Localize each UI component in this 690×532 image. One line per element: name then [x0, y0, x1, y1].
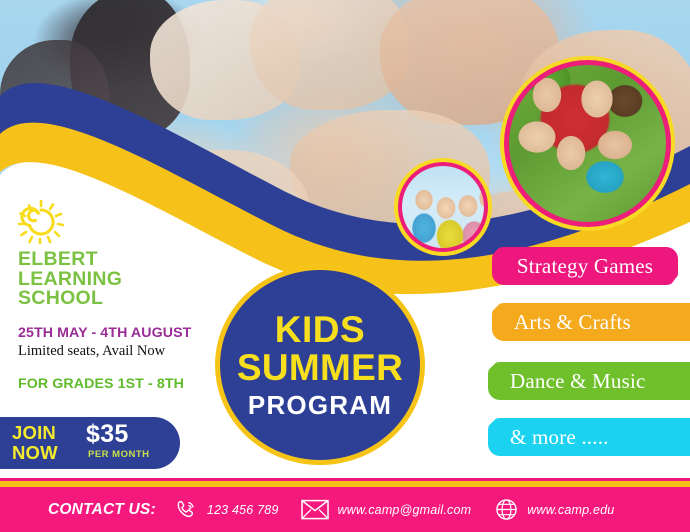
hero-title-circle: KIDS SUMMER PROGRAM [215, 265, 425, 465]
phone-number: 123 456 789 [207, 503, 279, 517]
contact-website[interactable]: www.camp.edu [495, 498, 614, 521]
envelope-icon [301, 499, 329, 520]
hero-line-3: PROGRAM [248, 390, 392, 420]
hero-line-2: SUMMER [237, 349, 403, 387]
tag-dance-music[interactable]: Dance & Music [488, 362, 690, 400]
price-period: PER MONTH [88, 449, 150, 460]
contact-email[interactable]: www.camp@gmail.com [301, 499, 472, 520]
tag-arts-crafts[interactable]: Arts & Crafts [492, 303, 690, 341]
globe-icon [495, 498, 518, 521]
kids-group-photo-large [500, 56, 675, 231]
sun-icon [18, 200, 64, 244]
phone-icon [174, 498, 198, 522]
contact-us-label: CONTACT US: [48, 501, 156, 519]
tag-more[interactable]: & more ..... [488, 418, 690, 456]
email-address: www.camp@gmail.com [338, 503, 472, 517]
hero-line-1: KIDS [275, 311, 365, 349]
kids-group-photo-small-image [402, 166, 484, 248]
left-info-column: ELBERT LEARNING SCHOOL 25TH MAY - 4TH AU… [14, 200, 244, 392]
limited-seats-note: Limited seats, Avail Now [18, 343, 244, 360]
price-amount: $35 [86, 421, 129, 448]
tag-more-label: & more ..... [510, 425, 609, 450]
join-now-price-badge[interactable]: JOIN NOW $35 PER MONTH [0, 417, 180, 469]
school-name-line-3: SCHOOL [18, 289, 244, 309]
grades-range: FOR GRADES 1ST - 8TH [18, 376, 244, 392]
join-line-2: NOW [12, 443, 84, 463]
kids-group-photo-large-image [509, 65, 666, 222]
contact-bar: CONTACT US: 123 456 789 www.camp@gmail.c… [0, 487, 690, 532]
join-line-1: JOIN [12, 423, 84, 443]
school-name: ELBERT LEARNING SCHOOL [18, 250, 244, 309]
program-dates: 25TH MAY - 4TH AUGUST [18, 325, 244, 341]
tag-arts-crafts-label: Arts & Crafts [514, 310, 631, 335]
school-name-line-1: ELBERT [18, 250, 244, 270]
contact-phone[interactable]: 123 456 789 [174, 498, 279, 522]
tag-strategy-games[interactable]: Strategy Games [492, 247, 678, 285]
poster-canvas: ELBERT LEARNING SCHOOL 25TH MAY - 4TH AU… [0, 0, 690, 532]
website-url: www.camp.edu [527, 503, 614, 517]
tag-strategy-games-label: Strategy Games [517, 254, 653, 279]
kids-group-photo-small [394, 158, 492, 256]
tag-dance-music-label: Dance & Music [510, 369, 646, 394]
join-now-label: JOIN NOW [12, 423, 84, 463]
